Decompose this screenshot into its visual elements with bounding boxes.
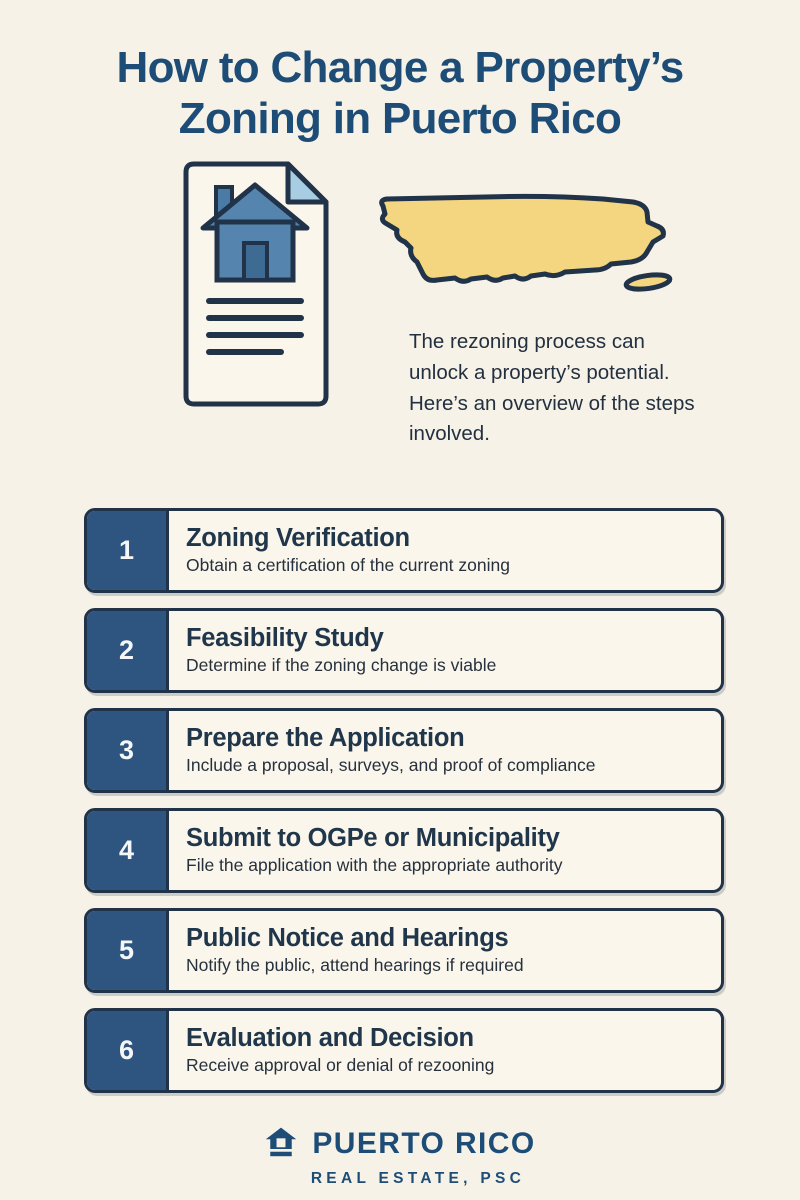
step-number-badge: 1	[87, 511, 169, 590]
step-card[interactable]: 3 Prepare the Application Include a prop…	[84, 708, 724, 793]
puerto-rico-map-icon	[365, 190, 690, 295]
step-title: Evaluation and Decision	[186, 1024, 707, 1053]
step-number-badge: 6	[87, 1011, 169, 1090]
footer-brand-name: PUERTO RICO	[312, 1129, 535, 1159]
footer-logo-row: PUERTO RICO	[264, 1124, 535, 1163]
footer-subtitle: REAL ESTATE, PSC	[311, 1171, 525, 1187]
step-title: Prepare the Application	[186, 724, 707, 753]
step-content: Feasibility Study Determine if the zonin…	[169, 611, 721, 690]
step-description: File the application with the appropriat…	[186, 855, 707, 877]
step-number-badge: 2	[87, 611, 169, 690]
step-content: Evaluation and Decision Receive approval…	[169, 1011, 721, 1090]
step-number-badge: 3	[87, 711, 169, 790]
step-card[interactable]: 1 Zoning Verification Obtain a certifica…	[84, 508, 724, 593]
house-logo-icon	[264, 1124, 298, 1163]
intro-paragraph: The rezoning process can unlock a proper…	[409, 327, 709, 450]
step-description: Include a proposal, surveys, and proof o…	[186, 755, 707, 777]
page-title-line-1: How to Change a Property’s	[117, 43, 684, 92]
step-title: Feasibility Study	[186, 624, 707, 653]
page-title-line-2: Zoning in Puerto Rico	[60, 93, 740, 144]
page-title: How to Change a Property’s Zoning in Pue…	[0, 0, 800, 144]
step-content: Zoning Verification Obtain a certificati…	[169, 511, 721, 590]
step-description: Notify the public, attend hearings if re…	[186, 955, 707, 977]
step-card[interactable]: 6 Evaluation and Decision Receive approv…	[84, 1008, 724, 1093]
step-description: Obtain a certification of the current zo…	[186, 555, 707, 577]
step-content: Prepare the Application Include a propos…	[169, 711, 721, 790]
step-description: Receive approval or denial of rezooning	[186, 1055, 707, 1077]
step-title: Public Notice and Hearings	[186, 924, 707, 953]
step-title: Submit to OGPe or Municipality	[186, 824, 707, 853]
footer-logo: PUERTO RICO REAL ESTATE, PSC	[0, 1124, 800, 1187]
hero-illustration: The rezoning process can unlock a proper…	[0, 152, 800, 472]
step-description: Determine if the zoning change is viable	[186, 655, 707, 677]
step-number-badge: 5	[87, 911, 169, 990]
step-number-badge: 4	[87, 811, 169, 890]
steps-list: 1 Zoning Verification Obtain a certifica…	[84, 508, 724, 1108]
zoning-document-with-house-icon	[180, 160, 330, 408]
step-card[interactable]: 2 Feasibility Study Determine if the zon…	[84, 608, 724, 693]
step-card[interactable]: 5 Public Notice and Hearings Notify the …	[84, 908, 724, 993]
step-card[interactable]: 4 Submit to OGPe or Municipality File th…	[84, 808, 724, 893]
step-content: Submit to OGPe or Municipality File the …	[169, 811, 721, 890]
step-content: Public Notice and Hearings Notify the pu…	[169, 911, 721, 990]
step-title: Zoning Verification	[186, 524, 707, 553]
